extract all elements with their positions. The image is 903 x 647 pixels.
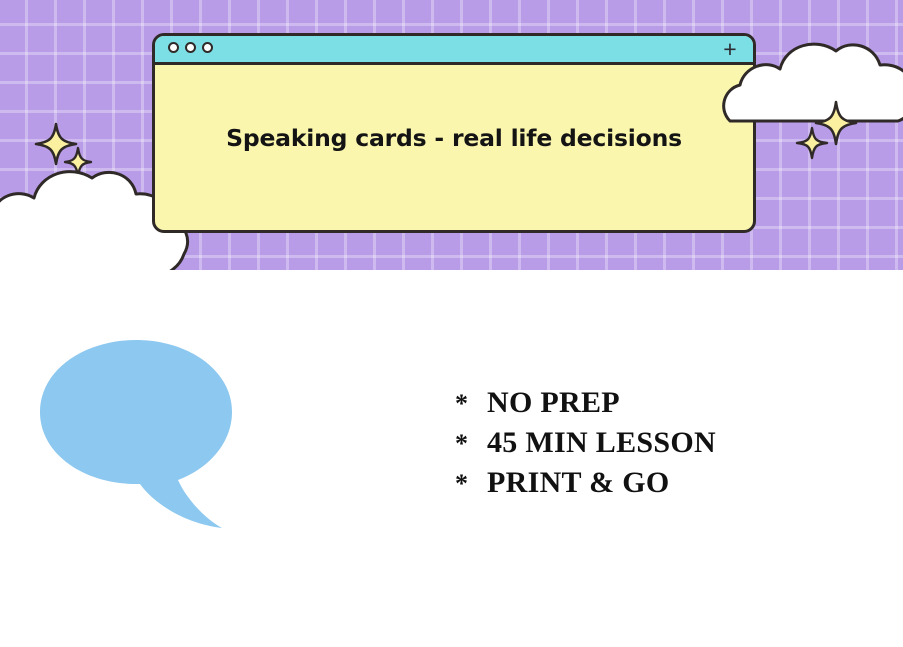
window-dot-3-icon[interactable] xyxy=(202,42,213,53)
window-body: Speaking cards - real life decisions xyxy=(155,65,753,230)
feature-label: NO PREP xyxy=(487,388,620,418)
feature-list: * NO PREP * 45 MIN LESSON * PRINT & GO xyxy=(455,388,855,508)
window-traffic-lights xyxy=(168,42,213,53)
window-dot-1-icon[interactable] xyxy=(168,42,179,53)
window-titlebar: + xyxy=(155,36,753,65)
cloud-right xyxy=(722,33,903,123)
list-item: * NO PREP xyxy=(455,388,855,428)
bullet-icon: * xyxy=(455,431,487,457)
list-item: * PRINT & GO xyxy=(455,468,855,508)
top-banner: + Speaking cards - real life decisions xyxy=(0,0,903,270)
sparkle-right-small xyxy=(795,126,829,160)
window-dot-2-icon[interactable] xyxy=(185,42,196,53)
browser-window[interactable]: + Speaking cards - real life decisions xyxy=(152,33,756,233)
feature-label: PRINT & GO xyxy=(487,468,669,498)
list-item: * 45 MIN LESSON xyxy=(455,428,855,468)
bullet-icon: * xyxy=(455,391,487,417)
feature-label: 45 MIN LESSON xyxy=(487,428,716,458)
page-title: Speaking cards - real life decisions xyxy=(155,124,753,152)
speech-bubble xyxy=(36,338,236,530)
bullet-icon: * xyxy=(455,471,487,497)
